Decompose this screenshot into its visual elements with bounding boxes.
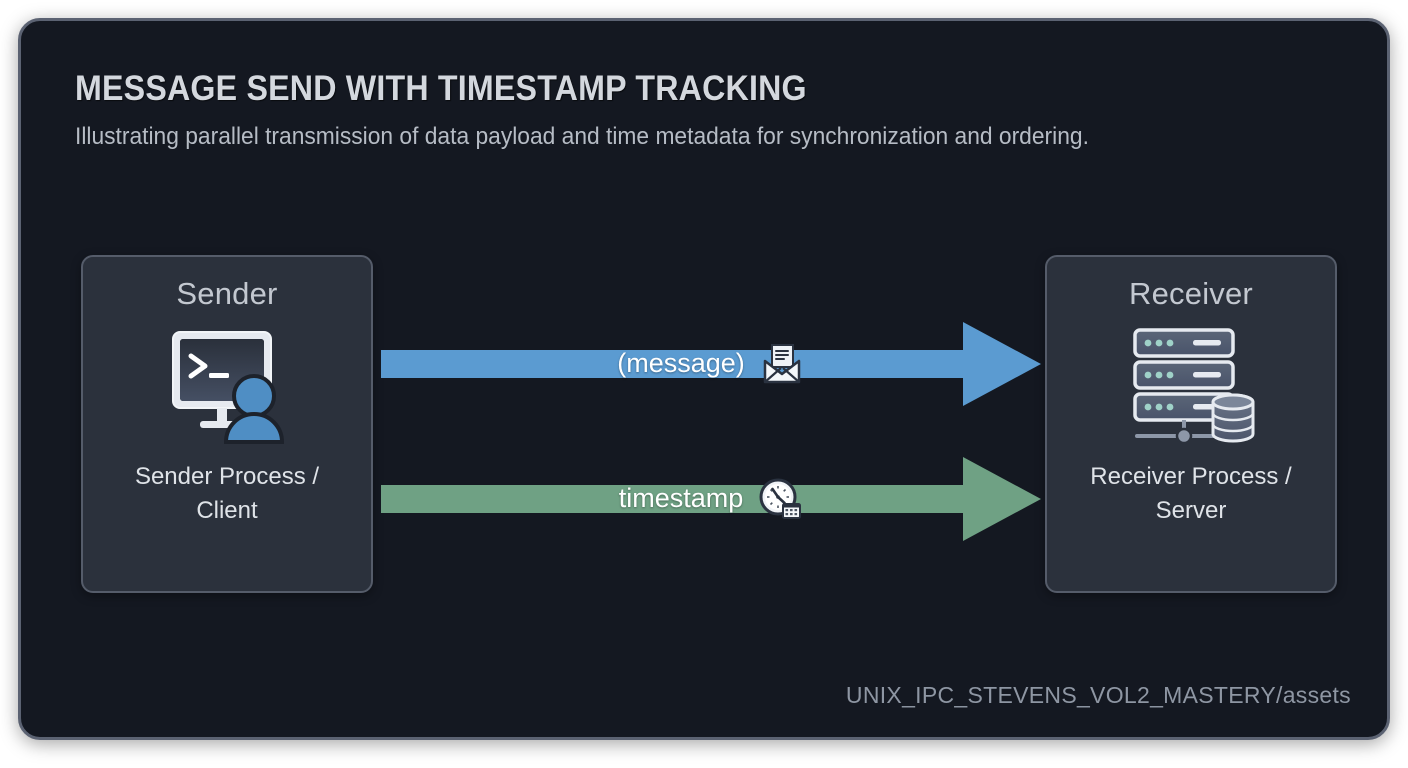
- diagram-panel: MESSAGE SEND WITH TIMESTAMP TRACKING Ill…: [18, 18, 1390, 740]
- node-sender-title: Sender: [176, 276, 277, 312]
- footer-path: UNIX_IPC_STEVENS_VOL2_MASTERY/assets: [846, 682, 1351, 709]
- terminal-user-icon: [157, 322, 297, 448]
- node-receiver[interactable]: Receiver: [1045, 255, 1337, 593]
- arrow-message-shape: [381, 322, 1041, 406]
- server-database-icon: [1121, 322, 1261, 448]
- node-sender-label: Sender Process / Client: [83, 460, 371, 528]
- diagram-canvas: MESSAGE SEND WITH TIMESTAMP TRACKING Ill…: [0, 0, 1408, 768]
- arrow-timestamp: timestamp: [381, 439, 1041, 559]
- node-receiver-title: Receiver: [1129, 276, 1253, 312]
- arrow-message: (message): [381, 304, 1041, 424]
- node-receiver-label: Receiver Process / Server: [1047, 460, 1335, 528]
- node-sender[interactable]: Sender: [81, 255, 373, 593]
- page-subtitle: Illustrating parallel transmission of da…: [75, 123, 1089, 151]
- page-title: MESSAGE SEND WITH TIMESTAMP TRACKING: [75, 69, 807, 109]
- arrow-timestamp-shape: [381, 457, 1041, 541]
